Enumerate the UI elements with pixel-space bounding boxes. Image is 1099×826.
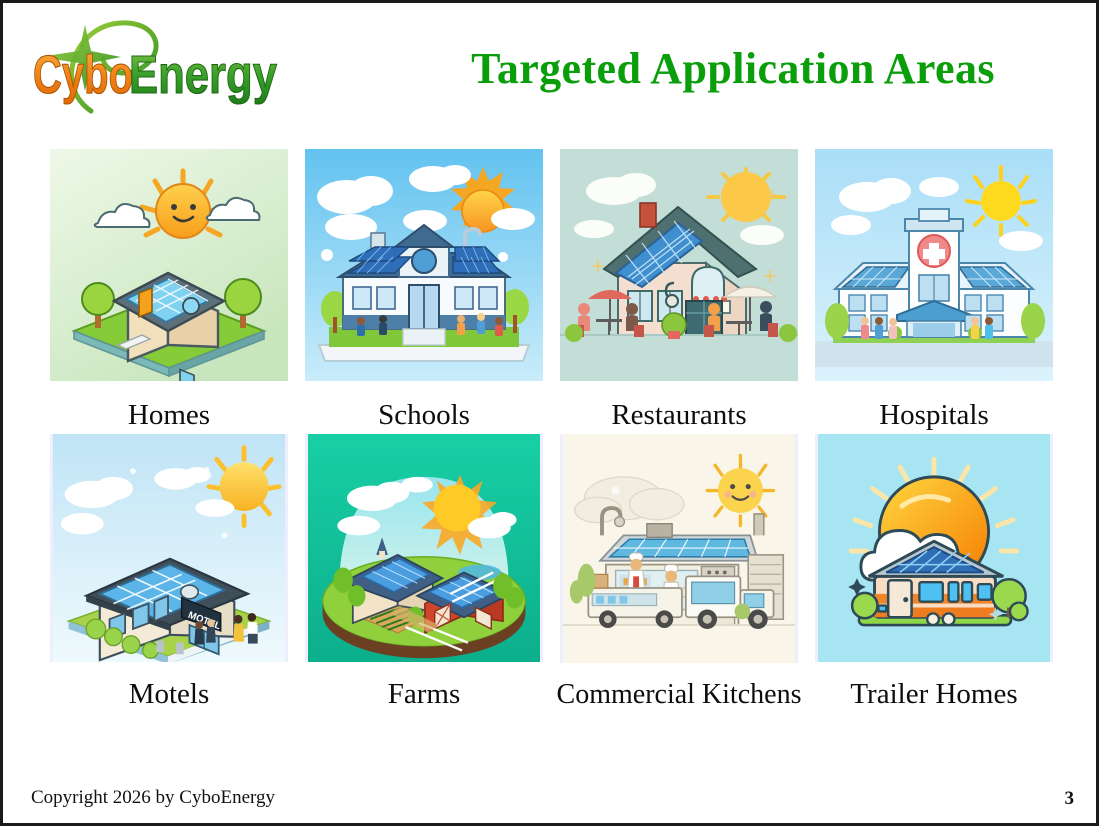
motels-illustration: MOTEL — [50, 434, 288, 662]
tile-trailer-homes[interactable]: Trailer Homes — [815, 434, 1053, 709]
tile-schools[interactable]: Schools — [305, 149, 543, 434]
tile-motels[interactable]: MOTEL — [50, 434, 288, 709]
logo-graphic: Cybo Energy — [25, 15, 283, 119]
application-areas-grid: Homes — [50, 149, 1055, 709]
cyboenergy-logo: Cybo Energy — [25, 15, 283, 119]
tile-label: Hospitals — [879, 401, 989, 430]
tile-label: Trailer Homes — [850, 680, 1017, 709]
restaurants-illustration — [560, 149, 798, 381]
tile-commercial-kitchens[interactable]: Commercial Kitchens — [560, 434, 798, 709]
schools-illustration — [305, 149, 543, 381]
homes-illustration — [50, 149, 288, 381]
solar-panel — [600, 535, 758, 560]
trailer-homes-illustration — [815, 434, 1053, 662]
tile-homes[interactable]: Homes — [50, 149, 288, 434]
logo-text-cybo: Cybo — [33, 45, 133, 105]
farms-illustration — [305, 434, 543, 662]
tile-label: Farms — [388, 680, 461, 709]
logo-text-energy: Energy — [129, 45, 277, 105]
tile-label: Homes — [128, 401, 210, 430]
slide: Cybo Energy Targeted Application Areas — [0, 0, 1099, 826]
tile-label: Commercial Kitchens — [557, 681, 802, 709]
grid-row-2: MOTEL — [50, 434, 1055, 709]
sun-icon — [967, 167, 1035, 235]
tile-label: Schools — [378, 401, 470, 430]
tile-label: Restaurants — [611, 401, 746, 430]
chef — [627, 553, 645, 592]
tile-hospitals[interactable]: Hospitals — [815, 149, 1053, 434]
copyright-notice: Copyright 2026 by CyboEnergy — [31, 787, 275, 809]
tile-label: Motels — [129, 680, 210, 709]
hospitals-illustration — [815, 149, 1053, 381]
tile-restaurants[interactable]: Restaurants — [560, 149, 798, 434]
page-number: 3 — [1065, 788, 1075, 810]
commercial-kitchens-illustration — [560, 434, 798, 663]
tile-farms[interactable]: Farms — [305, 434, 543, 709]
page-title: Targeted Application Areas — [403, 43, 1063, 94]
grid-row-1: Homes — [50, 149, 1055, 434]
